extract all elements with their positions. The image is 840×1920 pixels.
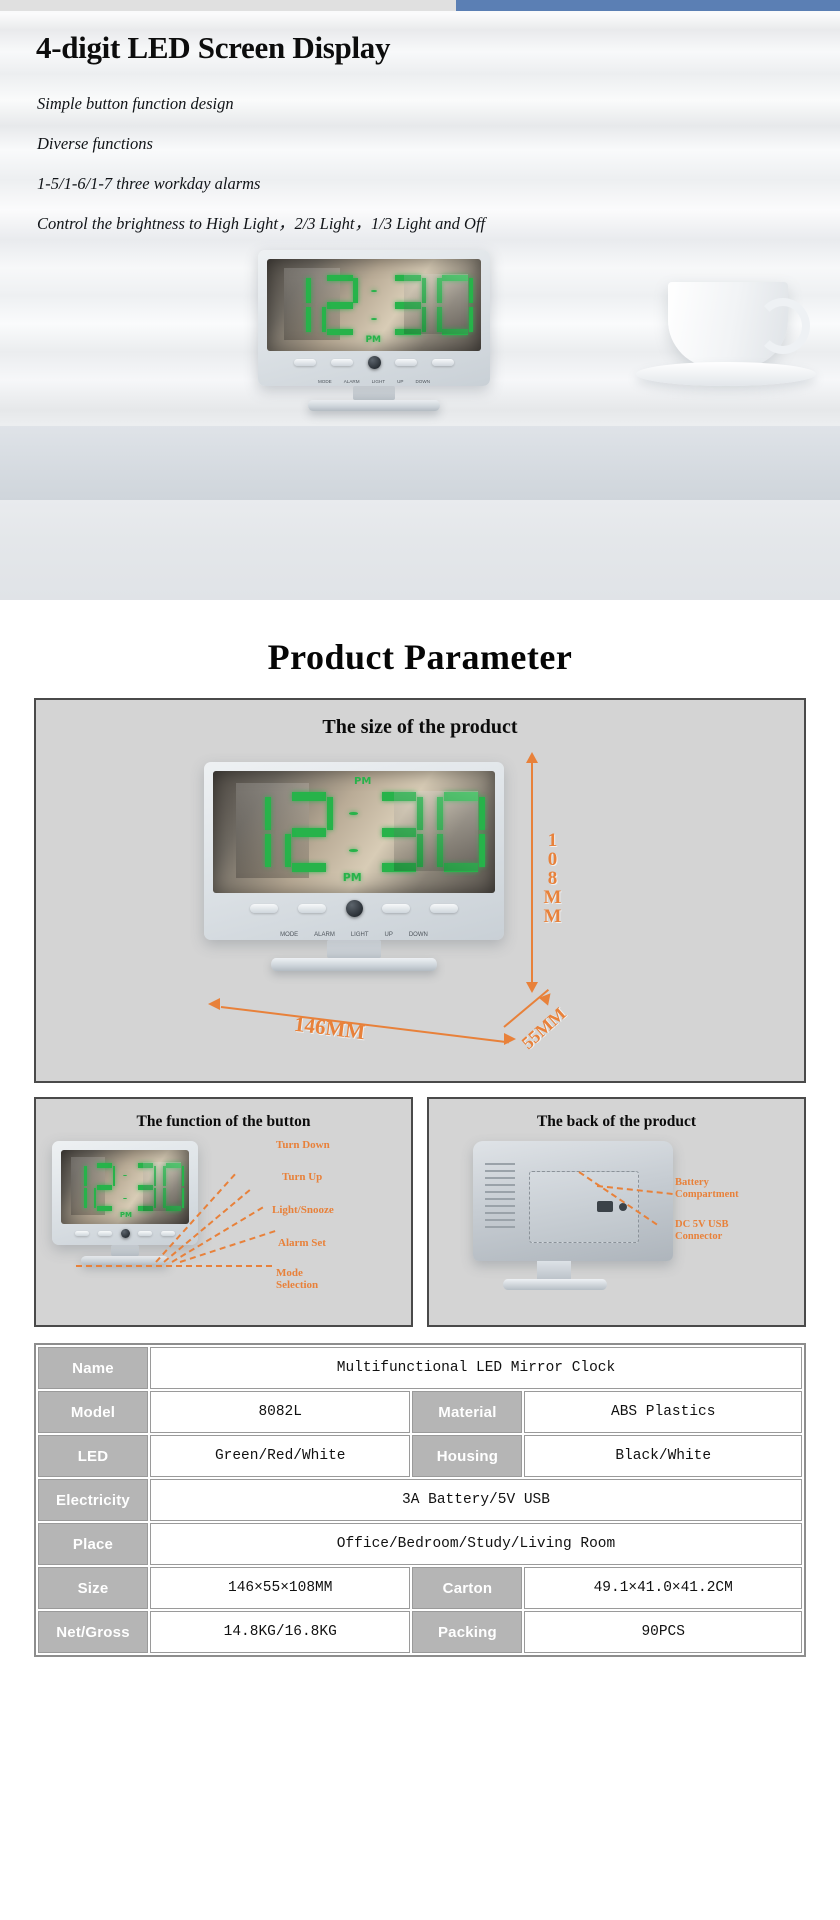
table-header-cell: Net/Gross bbox=[38, 1611, 148, 1653]
clock-button-row bbox=[61, 1224, 189, 1238]
hero-section: 4-digit LED Screen Display Simple button… bbox=[0, 0, 840, 600]
height-arrow-head-bottom bbox=[526, 982, 538, 993]
page-title: 4-digit LED Screen Display bbox=[36, 30, 390, 66]
table-row: Model8082LMaterialABS Plastics bbox=[38, 1391, 802, 1433]
panel-title-size: The size of the product bbox=[36, 716, 804, 739]
digit-minute-ones bbox=[437, 792, 485, 873]
table-value-cell: 90PCS bbox=[524, 1611, 802, 1653]
table-row: NameMultifunctional LED Mirror Clock bbox=[38, 1347, 802, 1389]
callout-usb-connector: DC 5V USB Connector bbox=[675, 1219, 728, 1243]
colon-separator bbox=[347, 794, 361, 870]
clock-stand-neck bbox=[111, 1245, 139, 1256]
table-row: Net/Gross14.8KG/16.8KGPacking90PCS bbox=[38, 1611, 802, 1653]
coffee-cup-prop bbox=[668, 282, 788, 368]
digit-hour-tens bbox=[275, 275, 311, 336]
table-row: Size146×55×108MMCarton49.1×41.0×41.2CM bbox=[38, 1567, 802, 1609]
pm-indicator-icon-top: PM bbox=[354, 776, 371, 787]
table-row: LEDGreen/Red/WhiteHousingBlack/White bbox=[38, 1435, 802, 1477]
panel-title-button-function: The function of the button bbox=[36, 1113, 411, 1131]
colon-separator bbox=[122, 1164, 128, 1210]
button-label-up: UP bbox=[385, 932, 393, 938]
table-header-cell: Housing bbox=[412, 1435, 522, 1477]
down-button[interactable] bbox=[430, 904, 458, 913]
clock-button-labels: MODE ALARM LIGHT UP DOWN bbox=[258, 379, 490, 384]
table-value-cell: 14.8KG/16.8KG bbox=[150, 1611, 410, 1653]
table-value-cell: Black/White bbox=[524, 1435, 802, 1477]
table-value-cell: ABS Plastics bbox=[524, 1391, 802, 1433]
table-value-cell: 8082L bbox=[150, 1391, 410, 1433]
table-value-cell: 3A Battery/5V USB bbox=[150, 1479, 802, 1521]
button-label-mode: MODE bbox=[280, 932, 298, 938]
feature-item: Control the brightness to High Light，2/3… bbox=[37, 204, 737, 244]
specification-table-body: NameMultifunctional LED Mirror ClockMode… bbox=[38, 1347, 802, 1653]
clock-back-base bbox=[503, 1279, 607, 1290]
light-knob-button[interactable] bbox=[346, 900, 363, 917]
clock-body: PM MODE ALARM LIGHT UP DOWN bbox=[258, 250, 490, 386]
clock-button-row bbox=[213, 893, 495, 917]
table-header-cell: Packing bbox=[412, 1611, 522, 1653]
width-arrow-head-right bbox=[504, 1033, 516, 1045]
clock-button-labels: MODE ALARM LIGHT UP DOWN bbox=[204, 932, 504, 938]
button-label-mode: MODE bbox=[318, 379, 332, 384]
table-value-cell: 49.1×41.0×41.2CM bbox=[524, 1567, 802, 1609]
callout-battery-compartment: Battery Compartment bbox=[675, 1177, 739, 1201]
digit-hour-tens bbox=[66, 1163, 88, 1212]
clock-device-size-diagram: PM PM MODE ALARM LIGHT UP DOWN bbox=[204, 762, 504, 971]
clock-stand-base bbox=[271, 958, 437, 971]
height-arrow-head-top bbox=[526, 752, 538, 763]
button-label-alarm: ALARM bbox=[314, 932, 335, 938]
colon-separator bbox=[369, 276, 380, 333]
clock-back-stand bbox=[537, 1261, 571, 1281]
up-button[interactable] bbox=[395, 359, 417, 366]
clock-screen: PM bbox=[61, 1150, 189, 1224]
clock-back-illustration bbox=[473, 1141, 673, 1261]
panel-title-product-back: The back of the product bbox=[429, 1113, 804, 1131]
alarm-button[interactable] bbox=[298, 904, 326, 913]
button-label-down: DOWN bbox=[409, 932, 428, 938]
table-row: Electricity3A Battery/5V USB bbox=[38, 1479, 802, 1521]
table-value-cell: 146×55×108MM bbox=[150, 1567, 410, 1609]
photo-table-surface bbox=[0, 426, 840, 500]
callout-alarm-set: Alarm Set bbox=[278, 1237, 326, 1249]
table-header-cell: Electricity bbox=[38, 1479, 148, 1521]
light-knob-button[interactable] bbox=[121, 1229, 130, 1238]
depth-dimension-label: 55MM bbox=[518, 1003, 571, 1053]
up-button[interactable] bbox=[382, 904, 410, 913]
table-header-cell: LED bbox=[38, 1435, 148, 1477]
callout-mode-selection: Mode Selection bbox=[276, 1267, 318, 1292]
width-dimension-label: 146MM bbox=[293, 1012, 367, 1045]
mode-button[interactable] bbox=[294, 359, 316, 366]
clock-body: PM PM MODE ALARM LIGHT UP DOWN bbox=[204, 762, 504, 940]
digit-minute-tens bbox=[135, 1163, 157, 1212]
pm-indicator-icon: PM bbox=[120, 1211, 132, 1219]
table-header-cell: Place bbox=[38, 1523, 148, 1565]
table-value-cell: Green/Red/White bbox=[150, 1435, 410, 1477]
digit-hour-tens bbox=[223, 792, 271, 873]
digit-minute-tens bbox=[375, 792, 423, 873]
clock-stand-base bbox=[308, 400, 440, 411]
usb-connector-port bbox=[597, 1201, 613, 1212]
width-arrow-head-left bbox=[208, 998, 220, 1010]
button-label-light: LIGHT bbox=[351, 932, 369, 938]
alarm-button[interactable] bbox=[331, 359, 353, 366]
callout-turn-down: Turn Down bbox=[276, 1139, 330, 1151]
digit-minute-ones bbox=[437, 275, 473, 336]
button-label-light: LIGHT bbox=[372, 379, 386, 384]
callout-turn-up: Turn Up bbox=[282, 1171, 322, 1183]
detail-panels-row: The function of the button bbox=[34, 1097, 806, 1327]
pm-indicator-icon: PM bbox=[365, 335, 381, 345]
clock-device-button-diagram: PM bbox=[52, 1141, 198, 1265]
clock-screen: PM bbox=[267, 259, 481, 351]
clock-button-row bbox=[267, 351, 481, 368]
panel-product-size: The size of the product bbox=[34, 698, 806, 1083]
panel-button-function: The function of the button bbox=[34, 1097, 413, 1327]
feature-item: Diverse functions bbox=[37, 124, 737, 164]
top-bar-blue-accent bbox=[456, 0, 840, 11]
table-header-cell: Material bbox=[412, 1391, 522, 1433]
hero-product-photo: PM MODE ALARM LIGHT UP DOWN bbox=[0, 240, 840, 500]
table-header-cell: Model bbox=[38, 1391, 148, 1433]
feature-item: Simple button function design bbox=[37, 84, 737, 124]
table-row: PlaceOffice/Bedroom/Study/Living Room bbox=[38, 1523, 802, 1565]
leader-line-mode-selection bbox=[76, 1265, 272, 1267]
callout-light-snooze: Light/Snooze bbox=[272, 1204, 334, 1216]
digit-minute-tens bbox=[390, 275, 426, 336]
table-value-cell: Multifunctional LED Mirror Clock bbox=[150, 1347, 802, 1389]
clock-stand-neck bbox=[327, 940, 381, 958]
table-header-cell: Size bbox=[38, 1567, 148, 1609]
clock-body: PM bbox=[52, 1141, 198, 1245]
digit-hour-ones bbox=[94, 1163, 116, 1212]
digit-minute-ones bbox=[163, 1163, 185, 1212]
clock-stand-neck bbox=[353, 386, 395, 400]
digit-hour-ones bbox=[322, 275, 358, 336]
feature-item: 1-5/1-6/1-7 three workday alarms bbox=[37, 164, 737, 204]
specification-table: NameMultifunctional LED Mirror ClockMode… bbox=[34, 1343, 806, 1657]
height-dimension-line bbox=[531, 762, 533, 984]
depth-arrow-head bbox=[539, 989, 555, 1005]
button-label-alarm: ALARM bbox=[344, 379, 360, 384]
down-button[interactable] bbox=[161, 1231, 175, 1236]
mode-button[interactable] bbox=[75, 1231, 89, 1236]
clock-screen: PM PM bbox=[213, 771, 495, 893]
digit-hour-ones bbox=[285, 792, 333, 873]
pm-indicator-icon: PM bbox=[343, 871, 362, 884]
alarm-button[interactable] bbox=[98, 1231, 112, 1236]
button-label-down: DOWN bbox=[415, 379, 430, 384]
height-dimension-label: 108MM bbox=[541, 830, 563, 925]
table-value-cell: Office/Bedroom/Study/Living Room bbox=[150, 1523, 802, 1565]
panel-product-back: The back of the product Battery Compartm… bbox=[427, 1097, 806, 1327]
clock-device-hero: PM MODE ALARM LIGHT UP DOWN bbox=[258, 250, 490, 411]
product-parameter-section: Product Parameter The size of the produc… bbox=[0, 600, 840, 1657]
down-button[interactable] bbox=[432, 359, 454, 366]
saucer-prop bbox=[636, 362, 816, 386]
speaker-vents bbox=[485, 1163, 515, 1231]
up-button[interactable] bbox=[138, 1231, 152, 1236]
feature-list: Simple button function design Diverse fu… bbox=[37, 84, 737, 244]
table-header-cell: Name bbox=[38, 1347, 148, 1389]
button-label-up: UP bbox=[397, 379, 403, 384]
section-title: Product Parameter bbox=[0, 600, 840, 678]
light-knob-button[interactable] bbox=[368, 356, 381, 369]
table-header-cell: Carton bbox=[412, 1567, 522, 1609]
mode-button[interactable] bbox=[250, 904, 278, 913]
